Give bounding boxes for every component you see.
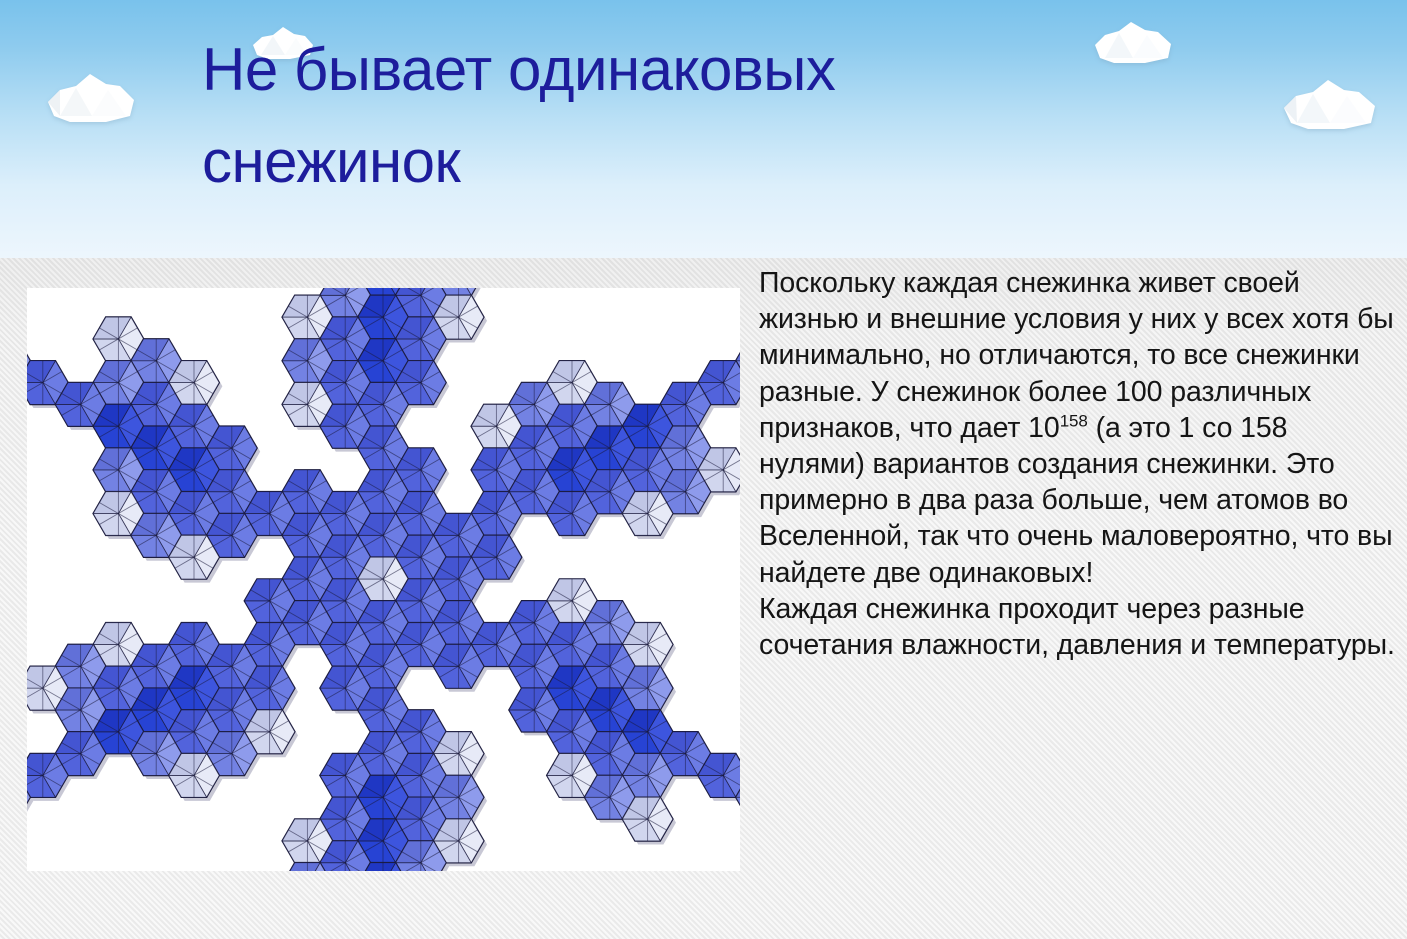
header-sky-band: Не бывает одинаковых снежинок <box>0 0 1407 258</box>
cloud-top-right-icon <box>1093 20 1173 64</box>
cloud-right-icon <box>1282 78 1378 130</box>
exponent-158: 158 <box>1060 411 1088 430</box>
hex-tile-facet <box>282 863 320 871</box>
page-title: Не бывает одинаковых снежинок <box>202 24 1062 208</box>
hex-tile-facet <box>736 339 740 361</box>
body-paragraph: Поскольку каждая снежинка живет своей жи… <box>759 265 1399 663</box>
cloud-left-icon <box>46 72 138 124</box>
snowflake-tile-layer <box>27 288 740 871</box>
snowflake-graphic <box>27 288 740 871</box>
snowflake-image-frame <box>27 288 740 871</box>
paragraph-part-2: Каждая снежинка проходит через разные со… <box>759 593 1395 661</box>
